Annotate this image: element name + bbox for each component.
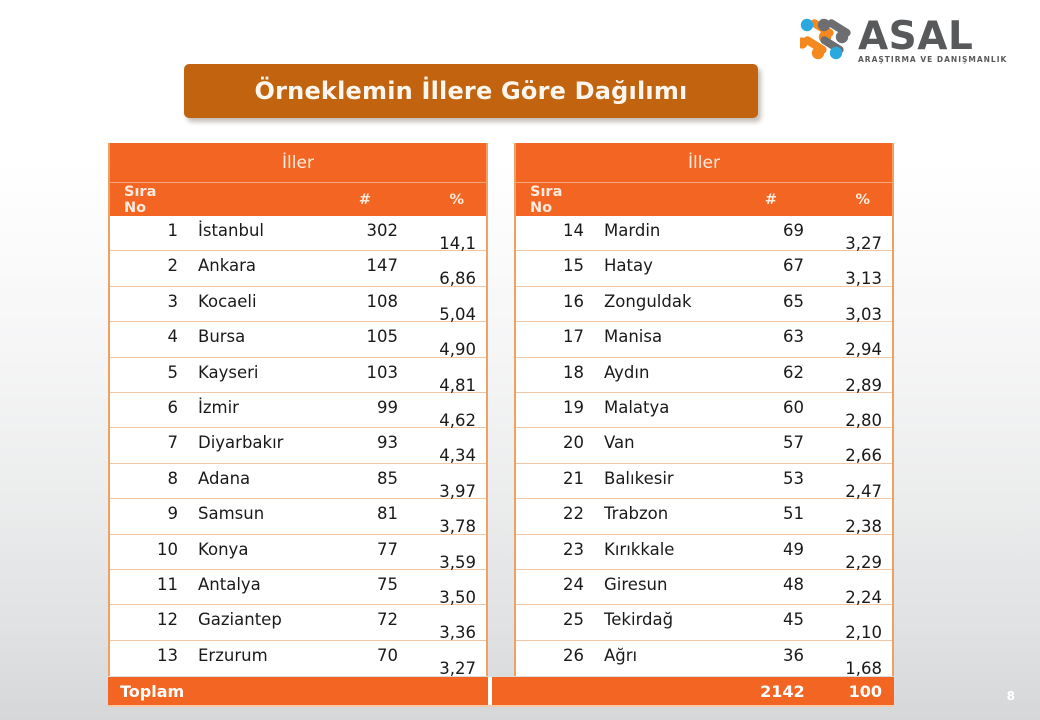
cell-sira-no: 12 — [110, 605, 182, 634]
cell-count: 77 — [322, 535, 408, 564]
cell-count: 53 — [728, 464, 814, 493]
table-row: 1İstanbul30214,1 — [110, 216, 486, 251]
cell-sira-no: 24 — [516, 570, 588, 599]
table-row: 12Gaziantep723,36 — [110, 605, 486, 640]
cell-count: 57 — [728, 428, 814, 457]
cell-sira-no: 8 — [110, 464, 182, 493]
table-row: 9Samsun813,78 — [110, 499, 486, 534]
table-row: 6İzmir994,62 — [110, 393, 486, 428]
cell-count: 62 — [728, 358, 814, 387]
table-row: 3Kocaeli1085,04 — [110, 287, 486, 322]
cell-province: Erzurum — [182, 641, 322, 670]
table-group-header-left: İller — [110, 143, 486, 183]
table-row: 21Balıkesir532,47 — [516, 464, 892, 499]
cell-count: 48 — [728, 570, 814, 599]
column-header-count: # — [322, 192, 408, 208]
cell-sira-no: 1 — [110, 216, 182, 245]
cell-sira-no: 23 — [516, 535, 588, 564]
slide-number: 8 — [1007, 689, 1015, 703]
table-row: 7Diyarbakır934,34 — [110, 428, 486, 463]
cell-sira-no: 5 — [110, 358, 182, 387]
table-row: 20Van572,66 — [516, 428, 892, 463]
cell-sira-no: 2 — [110, 251, 182, 280]
table-row: 10Konya773,59 — [110, 535, 486, 570]
table-row: 18Aydın622,89 — [516, 358, 892, 393]
table-row: 15Hatay673,13 — [516, 251, 892, 286]
slide-title-banner: Örneklemin İllere Göre Dağılımı — [184, 64, 758, 118]
cell-province: Aydın — [588, 358, 728, 387]
column-header-percent: % — [814, 192, 892, 208]
cell-province: Bursa — [182, 322, 322, 351]
cell-count: 65 — [728, 287, 814, 316]
provinces-table-left: İller Sıra No # % 1İstanbul30214,12Ankar… — [108, 143, 488, 676]
provinces-table-right: İller Sıra No # % 14Mardin693,2715Hatay6… — [514, 143, 894, 676]
cell-count: 103 — [322, 358, 408, 387]
cell-sira-no: 6 — [110, 393, 182, 422]
table-column-header-right: Sıra No # % — [516, 183, 892, 216]
total-count: 2142 — [760, 682, 805, 701]
cell-province: Ağrı — [588, 641, 728, 670]
cell-count: 45 — [728, 605, 814, 634]
total-label-cell: Toplam — [108, 677, 492, 705]
cell-count: 85 — [322, 464, 408, 493]
column-header-percent: % — [408, 192, 486, 208]
cell-province: Kocaeli — [182, 287, 322, 316]
cell-province: Ankara — [182, 251, 322, 280]
cell-sira-no: 3 — [110, 287, 182, 316]
cell-sira-no: 25 — [516, 605, 588, 634]
table-row: 5Kayseri1034,81 — [110, 358, 486, 393]
table-row: 2Ankara1476,86 — [110, 251, 486, 286]
cell-count: 72 — [322, 605, 408, 634]
total-label: Toplam — [120, 682, 184, 701]
table-group-header-right: İller — [516, 143, 892, 183]
cell-sira-no: 4 — [110, 322, 182, 351]
table-row: 16Zonguldak653,03 — [516, 287, 892, 322]
cell-province: Gaziantep — [182, 605, 322, 634]
cell-count: 302 — [322, 216, 408, 245]
cell-sira-no: 13 — [110, 641, 182, 670]
table-row: 26Ağrı361,68 — [516, 641, 892, 676]
table-row: 17Manisa632,94 — [516, 322, 892, 357]
table-row: 4Bursa1054,90 — [110, 322, 486, 357]
cell-sira-no: 18 — [516, 358, 588, 387]
cell-sira-no: 26 — [516, 641, 588, 670]
cell-province: Konya — [182, 535, 322, 564]
asal-logo: ASAL ARAŞTIRMA VE DANIŞMANLIK — [800, 16, 1000, 74]
cell-count: 36 — [728, 641, 814, 670]
logo-wordmark: ASAL — [858, 16, 1000, 58]
cell-count: 49 — [728, 535, 814, 564]
cell-province: Kayseri — [182, 358, 322, 387]
asal-logo-mark-icon — [800, 18, 860, 60]
cell-province: Diyarbakır — [182, 428, 322, 457]
column-header-count: # — [728, 192, 814, 208]
table-row: 24Giresun482,24 — [516, 570, 892, 605]
cell-province: Malatya — [588, 393, 728, 422]
cell-sira-no: 7 — [110, 428, 182, 457]
total-row: Toplam 2142 100 — [108, 677, 894, 707]
cell-sira-no: 17 — [516, 322, 588, 351]
table-row: 23Kırıkkale492,29 — [516, 535, 892, 570]
cell-province: Adana — [182, 464, 322, 493]
cell-count: 60 — [728, 393, 814, 422]
table-row: 8Adana853,97 — [110, 464, 486, 499]
cell-count: 108 — [322, 287, 408, 316]
cell-sira-no: 21 — [516, 464, 588, 493]
cell-province: Kırıkkale — [588, 535, 728, 564]
cell-count: 51 — [728, 499, 814, 528]
cell-count: 147 — [322, 251, 408, 280]
table-row: 22Trabzon512,38 — [516, 499, 892, 534]
cell-province: Van — [588, 428, 728, 457]
cell-province: Antalya — [182, 570, 322, 599]
page-title: Örneklemin İllere Göre Dağılımı — [255, 77, 688, 105]
cell-province: Zonguldak — [588, 287, 728, 316]
cell-province: Samsun — [182, 499, 322, 528]
cell-count: 69 — [728, 216, 814, 245]
cell-sira-no: 14 — [516, 216, 588, 245]
logo-tagline: ARAŞTIRMA VE DANIŞMANLIK — [858, 55, 1000, 65]
table-row: 13Erzurum703,27 — [110, 641, 486, 676]
column-header-sira-no: Sıra No — [516, 184, 588, 216]
cell-sira-no: 19 — [516, 393, 588, 422]
total-percent: 100 — [849, 682, 882, 701]
table-row: 14Mardin693,27 — [516, 216, 892, 251]
cell-count: 81 — [322, 499, 408, 528]
cell-count: 67 — [728, 251, 814, 280]
total-values-cell: 2142 100 — [492, 677, 894, 705]
cell-province: Balıkesir — [588, 464, 728, 493]
table-row: 19Malatya602,80 — [516, 393, 892, 428]
cell-sira-no: 10 — [110, 535, 182, 564]
cell-province: Manisa — [588, 322, 728, 351]
cell-province: Hatay — [588, 251, 728, 280]
cell-province: İstanbul — [182, 216, 322, 245]
cell-province: Giresun — [588, 570, 728, 599]
cell-count: 70 — [322, 641, 408, 670]
cell-count: 93 — [322, 428, 408, 457]
table-row: 11Antalya753,50 — [110, 570, 486, 605]
cell-sira-no: 11 — [110, 570, 182, 599]
cell-count: 105 — [322, 322, 408, 351]
table-body-left: 1İstanbul30214,12Ankara1476,863Kocaeli10… — [110, 216, 486, 676]
cell-province: İzmir — [182, 393, 322, 422]
cell-sira-no: 20 — [516, 428, 588, 457]
column-header-sira-no: Sıra No — [110, 184, 182, 216]
cell-province: Mardin — [588, 216, 728, 245]
cell-count: 99 — [322, 393, 408, 422]
table-body-right: 14Mardin693,2715Hatay673,1316Zonguldak65… — [516, 216, 892, 676]
cell-province: Trabzon — [588, 499, 728, 528]
cell-province: Tekirdağ — [588, 605, 728, 634]
cell-count: 63 — [728, 322, 814, 351]
cell-sira-no: 16 — [516, 287, 588, 316]
cell-sira-no: 22 — [516, 499, 588, 528]
cell-sira-no: 15 — [516, 251, 588, 280]
table-row: 25Tekirdağ452,10 — [516, 605, 892, 640]
cell-sira-no: 9 — [110, 499, 182, 528]
table-column-header-left: Sıra No # % — [110, 183, 486, 216]
cell-count: 75 — [322, 570, 408, 599]
